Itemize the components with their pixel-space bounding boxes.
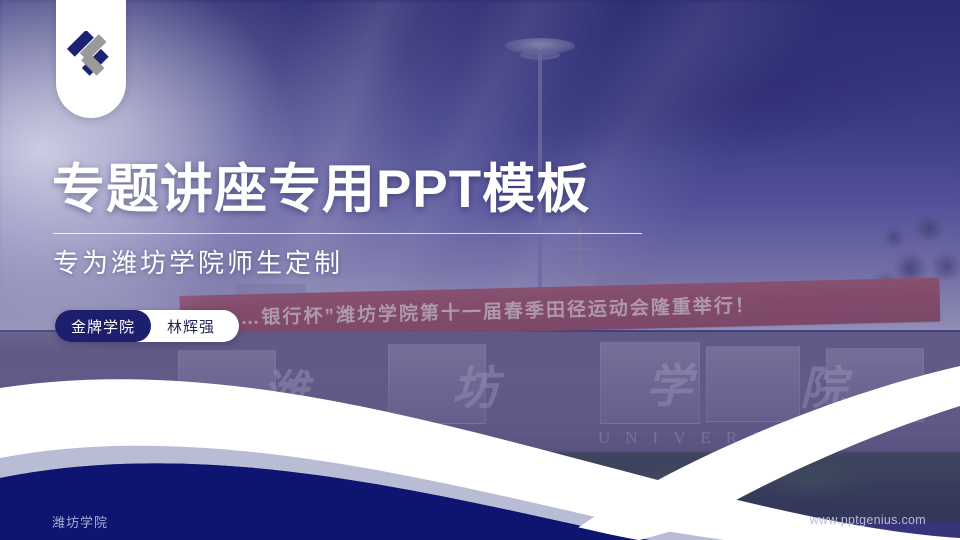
presentation-slide: “……银行杯”潍坊学院第十一届春季田径运动会隆重举行！ 潍 坊 学 院 IFAN… [0, 0, 960, 540]
wave-floor-fill [0, 465, 960, 540]
badge-tag-label: 金牌学院 [55, 310, 151, 342]
presenter-badge[interactable]: 金牌学院 林辉强 [55, 310, 239, 342]
logo-tab [56, 0, 126, 118]
title-divider [53, 233, 642, 234]
footer-website-label[interactable]: www.pptgenius.com [810, 513, 926, 527]
presenter-name-label: 林辉强 [151, 316, 235, 337]
page-subtitle: 专为潍坊学院师生定制 [53, 243, 343, 280]
page-title: 专题讲座专用PPT模板 [52, 162, 590, 218]
university-logo-icon [63, 31, 119, 81]
footer-institution-label: 潍坊学院 [52, 512, 108, 531]
